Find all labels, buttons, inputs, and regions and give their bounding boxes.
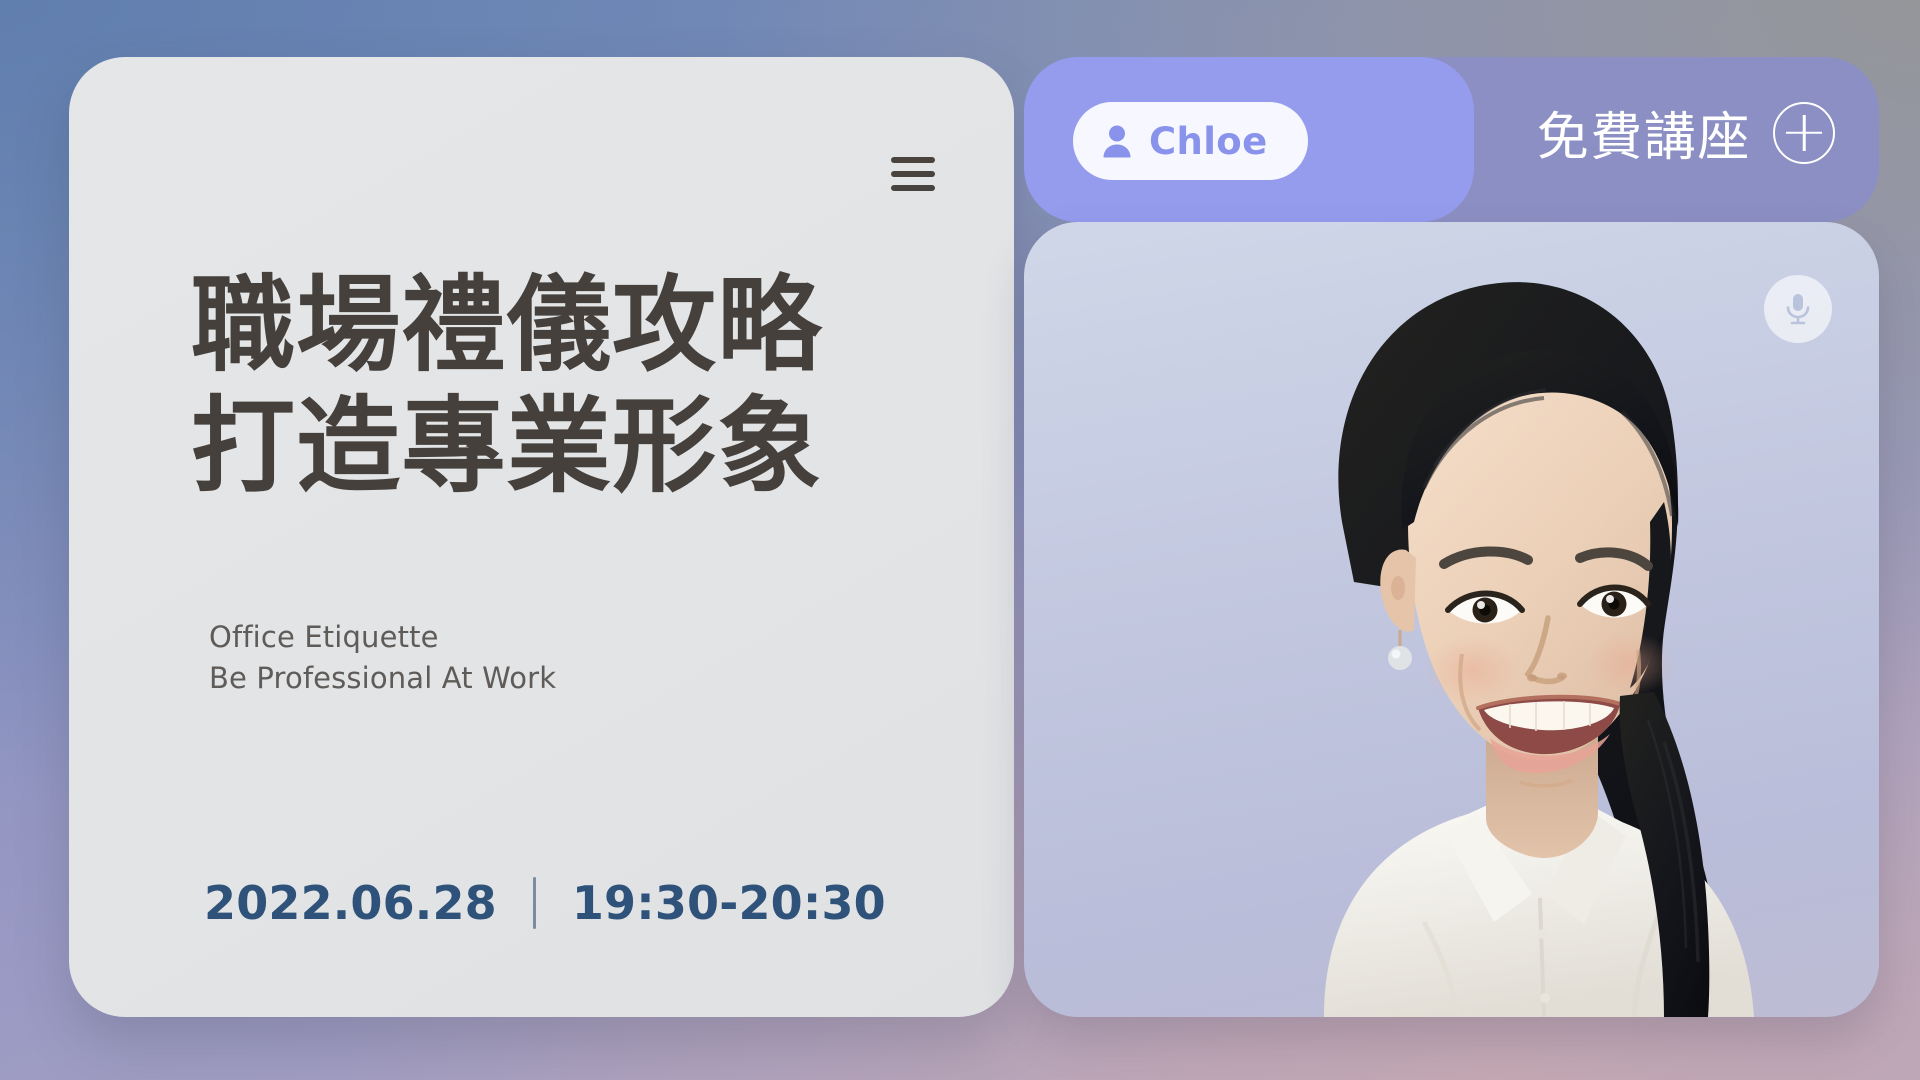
page-title: 職場禮儀攻略 打造專業形象 [191, 266, 981, 507]
event-datetime: 2022.06.28 19:30-20:30 [204, 876, 886, 930]
free-lecture-label-group: 免費講座 [1537, 95, 1835, 170]
avatar [1024, 222, 1879, 1017]
hamburger-bar-2 [891, 171, 935, 177]
subtitle: Office Etiquette Be Professional At Work [209, 617, 556, 699]
event-date: 2022.06.28 [204, 876, 497, 930]
plus-circle-icon[interactable] [1773, 102, 1835, 164]
subtitle-line-1: Office Etiquette [209, 617, 556, 658]
subtitle-line-2: Be Professional At Work [209, 658, 556, 699]
poster-canvas: 職場禮儀攻略 打造專業形象 Office Etiquette Be Profes… [0, 0, 1920, 1080]
headline-line-2: 打造專業形象 [191, 387, 981, 508]
right-media-column: Chloe 免費講座 [1024, 57, 1879, 1017]
microphone-icon[interactable] [1764, 275, 1832, 343]
meta-divider [533, 877, 536, 929]
headline-line-1: 職場禮儀攻略 [191, 266, 981, 387]
hamburger-bar-3 [891, 185, 935, 191]
left-info-card: 職場禮儀攻略 打造專業形象 Office Etiquette Be Profes… [69, 57, 1014, 1017]
speaker-name: Chloe [1149, 120, 1268, 163]
person-icon [1101, 124, 1133, 158]
hamburger-menu-icon[interactable] [891, 157, 935, 191]
free-lecture-label: 免費講座 [1537, 95, 1751, 170]
hamburger-bar-1 [891, 157, 935, 163]
speaker-pill[interactable]: Chloe [1073, 102, 1308, 180]
event-time: 19:30-20:30 [572, 876, 886, 930]
speaker-photo-card [1024, 222, 1879, 1017]
